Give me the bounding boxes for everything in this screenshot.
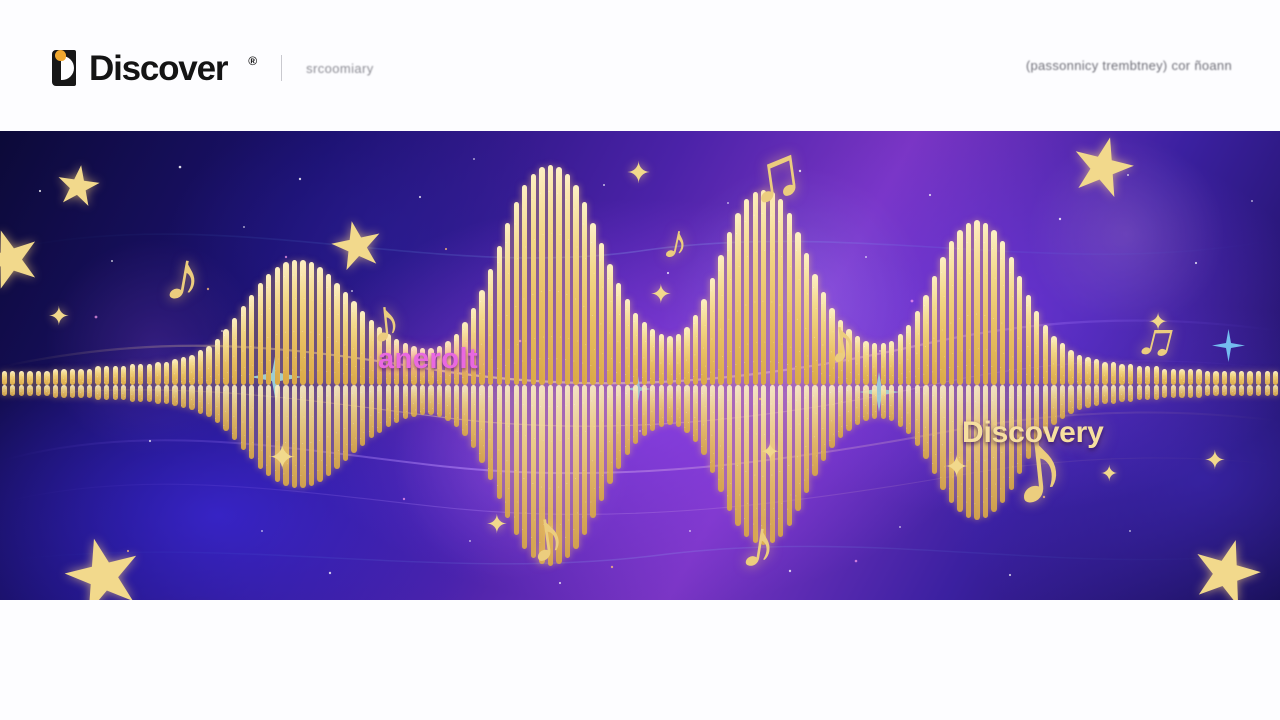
waveform-bar xyxy=(351,301,356,385)
waveform-bar xyxy=(1256,371,1261,385)
waveform-bar xyxy=(241,385,246,450)
sparkle-icon: ✦ xyxy=(944,453,969,483)
waveform-bar xyxy=(1196,369,1201,385)
waveform-bar xyxy=(232,318,237,385)
page-footer: poascmi tnaoiknowel, ftoo rooi'bic iftvs… xyxy=(0,600,1280,720)
waveform-bar xyxy=(70,385,75,398)
waveform-bar xyxy=(351,385,356,453)
waveform-bar xyxy=(1265,371,1270,385)
waveform-bar xyxy=(1154,385,1159,400)
waveform-bar xyxy=(804,385,809,493)
waveform-bar xyxy=(1060,343,1065,385)
header-subtitle: srcoomiary xyxy=(306,61,374,76)
sparkle-icon: ✦ xyxy=(486,511,508,537)
waveform-bar xyxy=(1068,350,1073,385)
waveform-bar xyxy=(1213,385,1218,396)
waveform-bar xyxy=(753,192,758,385)
waveform-bar xyxy=(1171,385,1176,398)
waveform-bar xyxy=(95,385,100,400)
waveform-bar xyxy=(189,385,194,410)
waveform-bar xyxy=(479,385,484,463)
waveform-bar xyxy=(616,283,621,385)
waveform-bar xyxy=(181,357,186,385)
waveform-bar xyxy=(78,369,83,385)
waveform-bar xyxy=(667,385,672,425)
beamed-note-icon: ♫ xyxy=(743,133,808,214)
waveform-bar xyxy=(300,385,305,488)
waveform-bar xyxy=(898,385,903,427)
hero-banner: ★ ★ ★ ★ ★ ★ ✦ ✦ ✦ ✦ ✦ ✦ ✦ ✦ ✦ ✦ ♫ ♪ ♪ ♪ … xyxy=(0,131,1280,600)
waveform-bar xyxy=(19,385,24,396)
waveform-bar xyxy=(761,190,766,385)
waveform-bar xyxy=(633,313,638,385)
waveform-bar xyxy=(1051,336,1056,385)
waveform-bar xyxy=(164,362,169,385)
waveform-bar xyxy=(582,385,587,535)
waveform-bar xyxy=(206,385,211,417)
waveform-bar xyxy=(650,385,655,431)
waveform-bar xyxy=(138,364,143,385)
waveform-bar xyxy=(61,385,66,398)
waveform-bar xyxy=(514,385,519,535)
waveform-bar xyxy=(1222,371,1227,385)
waveform-bar xyxy=(872,385,877,419)
waveform-bar xyxy=(36,385,41,396)
waveform-bar xyxy=(565,174,570,385)
waveform-bar xyxy=(2,371,7,385)
waveform-bar xyxy=(326,385,331,476)
waveform-bar xyxy=(932,276,937,385)
waveform-bar xyxy=(241,306,246,385)
waveform-bar xyxy=(821,385,826,461)
waveform-bar xyxy=(983,223,988,385)
waveform-bar xyxy=(1137,385,1142,400)
waveform-bar xyxy=(1094,385,1099,406)
sparkle-icon: ✦ xyxy=(268,441,297,475)
waveform-bar xyxy=(428,385,433,415)
waveform-bar xyxy=(87,369,92,385)
trademark-icon: ® xyxy=(248,54,257,68)
waveform-bar xyxy=(181,385,186,408)
waveform-bar xyxy=(676,385,681,427)
waveform-bar xyxy=(488,385,493,480)
waveform-bar xyxy=(906,325,911,385)
waveform-bar xyxy=(582,202,587,385)
waveform-bar xyxy=(309,385,314,486)
waveform-bar xyxy=(223,329,228,385)
waveform-bar xyxy=(1230,385,1235,396)
waveform-bar xyxy=(403,385,408,419)
header-divider xyxy=(281,55,282,81)
waveform-bar xyxy=(787,385,792,526)
waveform-bar xyxy=(215,339,220,385)
waveform-bar xyxy=(104,385,109,400)
waveform-bar xyxy=(1119,364,1124,385)
waveform-bar xyxy=(701,385,706,455)
waveform-bar xyxy=(872,343,877,385)
waveform-bar xyxy=(497,246,502,385)
waveform-bar xyxy=(147,364,152,385)
waveform-bar xyxy=(556,167,561,385)
waveform-bar xyxy=(855,385,860,425)
waveform-bar xyxy=(693,385,698,442)
waveform-bar xyxy=(1222,385,1227,396)
waveform-bar xyxy=(590,223,595,385)
waveform-bar xyxy=(258,385,263,469)
waveform-bar xyxy=(1111,385,1116,404)
waveform-bar xyxy=(1179,385,1184,398)
waveform-bar xyxy=(735,213,740,385)
waveform-bar xyxy=(727,385,732,511)
waveform-bar xyxy=(573,385,578,549)
waveform-bar xyxy=(130,364,135,385)
waveform-bar xyxy=(437,385,442,417)
waveform-bar xyxy=(164,385,169,404)
waveform-bar xyxy=(1205,385,1210,396)
waveform-bar xyxy=(1128,385,1133,402)
waveform-bar xyxy=(206,346,211,385)
waveform-bar xyxy=(479,290,484,385)
waveform-bar xyxy=(53,385,58,398)
waveform-bar xyxy=(974,220,979,385)
waveform-bar xyxy=(923,295,928,385)
waveform-bar xyxy=(10,385,15,396)
waveform-bar xyxy=(113,366,118,385)
waveform-bar xyxy=(1239,371,1244,385)
waveform-bar xyxy=(10,371,15,385)
discover-d-mark-icon xyxy=(52,48,78,88)
waveform-bar xyxy=(155,385,160,404)
waveform-bar xyxy=(898,334,903,385)
brand-name: Discover xyxy=(89,51,227,86)
waveform-bar xyxy=(974,385,979,520)
waveform-bar xyxy=(1034,311,1039,385)
waveform-bar xyxy=(27,385,32,396)
waveform-bar xyxy=(121,366,126,385)
waveform-bar xyxy=(565,385,570,558)
waveform-bar xyxy=(130,385,135,402)
waveform-bar xyxy=(1009,257,1014,385)
waveform-bar xyxy=(718,255,723,385)
waveform-bar xyxy=(949,241,954,385)
waveform-bar xyxy=(778,199,783,385)
waveform-bar xyxy=(804,253,809,385)
waveform-bar xyxy=(317,267,322,385)
waveform-bar xyxy=(1085,357,1090,385)
waveform-bar xyxy=(1273,371,1278,385)
waveform-bar xyxy=(317,385,322,482)
waveform-bar xyxy=(95,366,100,385)
waveform-bar xyxy=(633,385,638,444)
waveform-bar xyxy=(505,385,510,518)
sparkle-icon: ✦ xyxy=(1100,463,1118,485)
waveform-bar xyxy=(1179,369,1184,385)
waveform-bar xyxy=(104,366,109,385)
waveform-bar xyxy=(121,385,126,400)
waveform-bar xyxy=(915,385,920,446)
waveform-bar xyxy=(266,274,271,385)
waveform-bar xyxy=(735,385,740,526)
waveform-bar xyxy=(829,385,834,448)
waveform-bar xyxy=(394,385,399,423)
waveform-bar xyxy=(915,311,920,385)
waveform-bar xyxy=(693,315,698,385)
waveform-bar xyxy=(770,192,775,385)
waveform-bar xyxy=(283,262,288,385)
waveform-bar xyxy=(991,230,996,385)
waveform-bar xyxy=(659,334,664,385)
waveform-bar xyxy=(334,283,339,385)
waveform-bar xyxy=(607,385,612,484)
waveform-bar xyxy=(454,385,459,427)
waveform-bar xyxy=(590,385,595,518)
waveform-bar xyxy=(44,371,49,385)
waveform-bar xyxy=(1068,385,1073,414)
waveform-bar xyxy=(360,311,365,385)
waveform-bar xyxy=(1145,385,1150,400)
waveform-bar xyxy=(650,329,655,385)
waveform-bar xyxy=(215,385,220,423)
page-header: Discover ® srcoomiary (passonnicy trembt… xyxy=(0,0,1280,131)
waveform-bar xyxy=(198,350,203,385)
waveform-bar xyxy=(343,385,348,461)
waveform-bar xyxy=(155,362,160,385)
waveform-bar xyxy=(249,295,254,385)
waveform-bar xyxy=(292,260,297,385)
waveform-bar xyxy=(863,341,868,385)
waveform-bar xyxy=(727,232,732,385)
waveform-bar xyxy=(1145,366,1150,385)
waveform-bar xyxy=(1111,362,1116,385)
waveform-bar xyxy=(1230,371,1235,385)
waveform-bar xyxy=(795,385,800,511)
waveform-bar xyxy=(659,385,664,427)
waveform-bar xyxy=(684,385,689,433)
waveform-bar xyxy=(1256,385,1261,396)
waveform-bar xyxy=(1119,385,1124,402)
waveform-bar xyxy=(625,299,630,385)
waveform-bar xyxy=(1102,385,1107,404)
waveform-bar xyxy=(1162,385,1167,398)
waveform-bar xyxy=(420,385,425,415)
waveform-bar xyxy=(343,292,348,385)
waveform-bar xyxy=(53,369,58,385)
waveform-bar xyxy=(223,385,228,431)
waveform-bar xyxy=(360,385,365,446)
waveform-bar xyxy=(923,385,928,459)
sparkle-icon: ✦ xyxy=(626,159,651,189)
waveform-bar xyxy=(957,230,962,385)
brand-logo[interactable]: Discover ® srcoomiary xyxy=(52,48,374,88)
waveform-bar xyxy=(642,322,647,385)
waveform-bar xyxy=(44,385,49,396)
waveform-bar xyxy=(232,385,237,440)
waveform-bar xyxy=(616,385,621,469)
waveform-bar xyxy=(642,385,647,436)
waveform-bar xyxy=(1128,364,1133,385)
waveform-bar xyxy=(812,385,817,476)
waveform-bar xyxy=(625,385,630,455)
waveform-bar xyxy=(983,385,988,518)
waveform-bar xyxy=(514,202,519,385)
waveform-bar xyxy=(172,359,177,385)
waveform-bar xyxy=(411,385,416,417)
waveform-bar xyxy=(78,385,83,398)
waveform-bar xyxy=(795,232,800,385)
waveform-bar xyxy=(1077,355,1082,385)
waveform-bar xyxy=(531,174,536,385)
waveform-bar xyxy=(548,165,553,385)
waveform-bar xyxy=(87,385,92,398)
waveform-bar xyxy=(787,213,792,385)
sparkle-icon: ✦ xyxy=(1204,447,1226,473)
waveform-bar xyxy=(386,385,391,427)
waveform-bar xyxy=(881,385,886,419)
waveform-bar xyxy=(309,262,314,385)
sparkle-icon: ✦ xyxy=(48,303,70,329)
waveform-bar xyxy=(1137,366,1142,385)
waveform-bar xyxy=(27,371,32,385)
waveform-bar xyxy=(949,385,954,503)
waveform-bar xyxy=(1094,359,1099,385)
waveform-bar xyxy=(1239,385,1244,396)
waveform-bar xyxy=(1043,325,1048,385)
waveform-bar xyxy=(676,334,681,385)
waveform-bar xyxy=(710,278,715,385)
waveform-bar xyxy=(889,385,894,421)
waveform-bar xyxy=(1026,295,1031,385)
sparkle-icon: ✦ xyxy=(760,441,780,465)
waveform-bar xyxy=(1205,371,1210,385)
waveform-bar xyxy=(1265,385,1270,396)
waveform-bar xyxy=(539,167,544,385)
waveform-bar xyxy=(189,355,194,385)
waveform-bar xyxy=(710,385,715,473)
waveform-bar xyxy=(1247,385,1252,396)
waveform-bar xyxy=(1196,385,1201,398)
waveform-bar xyxy=(497,385,502,499)
waveform-bar xyxy=(607,264,612,385)
waveform-bar xyxy=(172,385,177,406)
waveform-bar xyxy=(838,385,843,438)
waveform-bar xyxy=(718,385,723,492)
hero-discovery-text: Discovery xyxy=(962,416,1104,450)
waveform-bar xyxy=(1171,369,1176,385)
waveform-bar xyxy=(1077,385,1082,410)
star-icon: ★ xyxy=(50,156,105,216)
waveform-bar xyxy=(488,269,493,385)
waveform-bar xyxy=(377,385,382,433)
waveform-bar xyxy=(1000,241,1005,385)
waveform-bar xyxy=(599,385,604,501)
waveform-bar xyxy=(863,385,868,421)
header-right-note: (passonnicy trembtney) cor ñoann xyxy=(1026,58,1232,73)
waveform-bar xyxy=(1213,371,1218,385)
waveform-bar xyxy=(932,385,937,474)
waveform-bar xyxy=(326,274,331,385)
waveform-bar xyxy=(61,369,66,385)
waveform-bar xyxy=(812,274,817,385)
waveform-bar xyxy=(2,385,7,396)
waveform-bar xyxy=(198,385,203,414)
waveform-bar xyxy=(599,243,604,385)
waveform-bar xyxy=(1188,369,1193,385)
waveform-bar xyxy=(138,385,143,402)
waveform-bar xyxy=(113,385,118,400)
waveform-bar xyxy=(462,385,467,436)
waveform-bar xyxy=(940,257,945,385)
waveform-bar xyxy=(573,185,578,385)
waveform-bar xyxy=(36,371,41,385)
waveform-bar xyxy=(1102,362,1107,385)
waveform-bar xyxy=(701,299,706,385)
waveform-bar xyxy=(258,283,263,385)
waveform-bar xyxy=(1273,385,1278,396)
waveform-bar xyxy=(667,336,672,385)
waveform-bar xyxy=(1247,371,1252,385)
waveform-bar xyxy=(1017,276,1022,385)
waveform-bar xyxy=(471,385,476,448)
waveform-bar xyxy=(522,185,527,385)
waveform-bar xyxy=(300,260,305,385)
waveform-bar xyxy=(505,223,510,385)
sparkle-icon: ✦ xyxy=(650,281,672,307)
waveform-bar xyxy=(275,267,280,385)
waveform-bar xyxy=(70,369,75,385)
waveform-bar xyxy=(684,327,689,385)
waveform-bar xyxy=(846,385,851,431)
waveform-bar xyxy=(249,385,254,459)
waveform-bar xyxy=(19,371,24,385)
waveform-bar xyxy=(881,343,886,385)
hero-accent-text: anerolt xyxy=(378,343,478,376)
waveform-bar xyxy=(147,385,152,402)
waveform-bar xyxy=(906,385,911,434)
waveform-bar xyxy=(889,341,894,385)
waveform-bar xyxy=(966,223,971,385)
waveform-bar xyxy=(744,199,749,385)
waveform-bar xyxy=(445,385,450,421)
waveform-bar xyxy=(334,385,339,469)
waveform-bar xyxy=(1085,385,1090,408)
waveform-bar xyxy=(1188,385,1193,398)
waveform-bar xyxy=(369,385,374,438)
